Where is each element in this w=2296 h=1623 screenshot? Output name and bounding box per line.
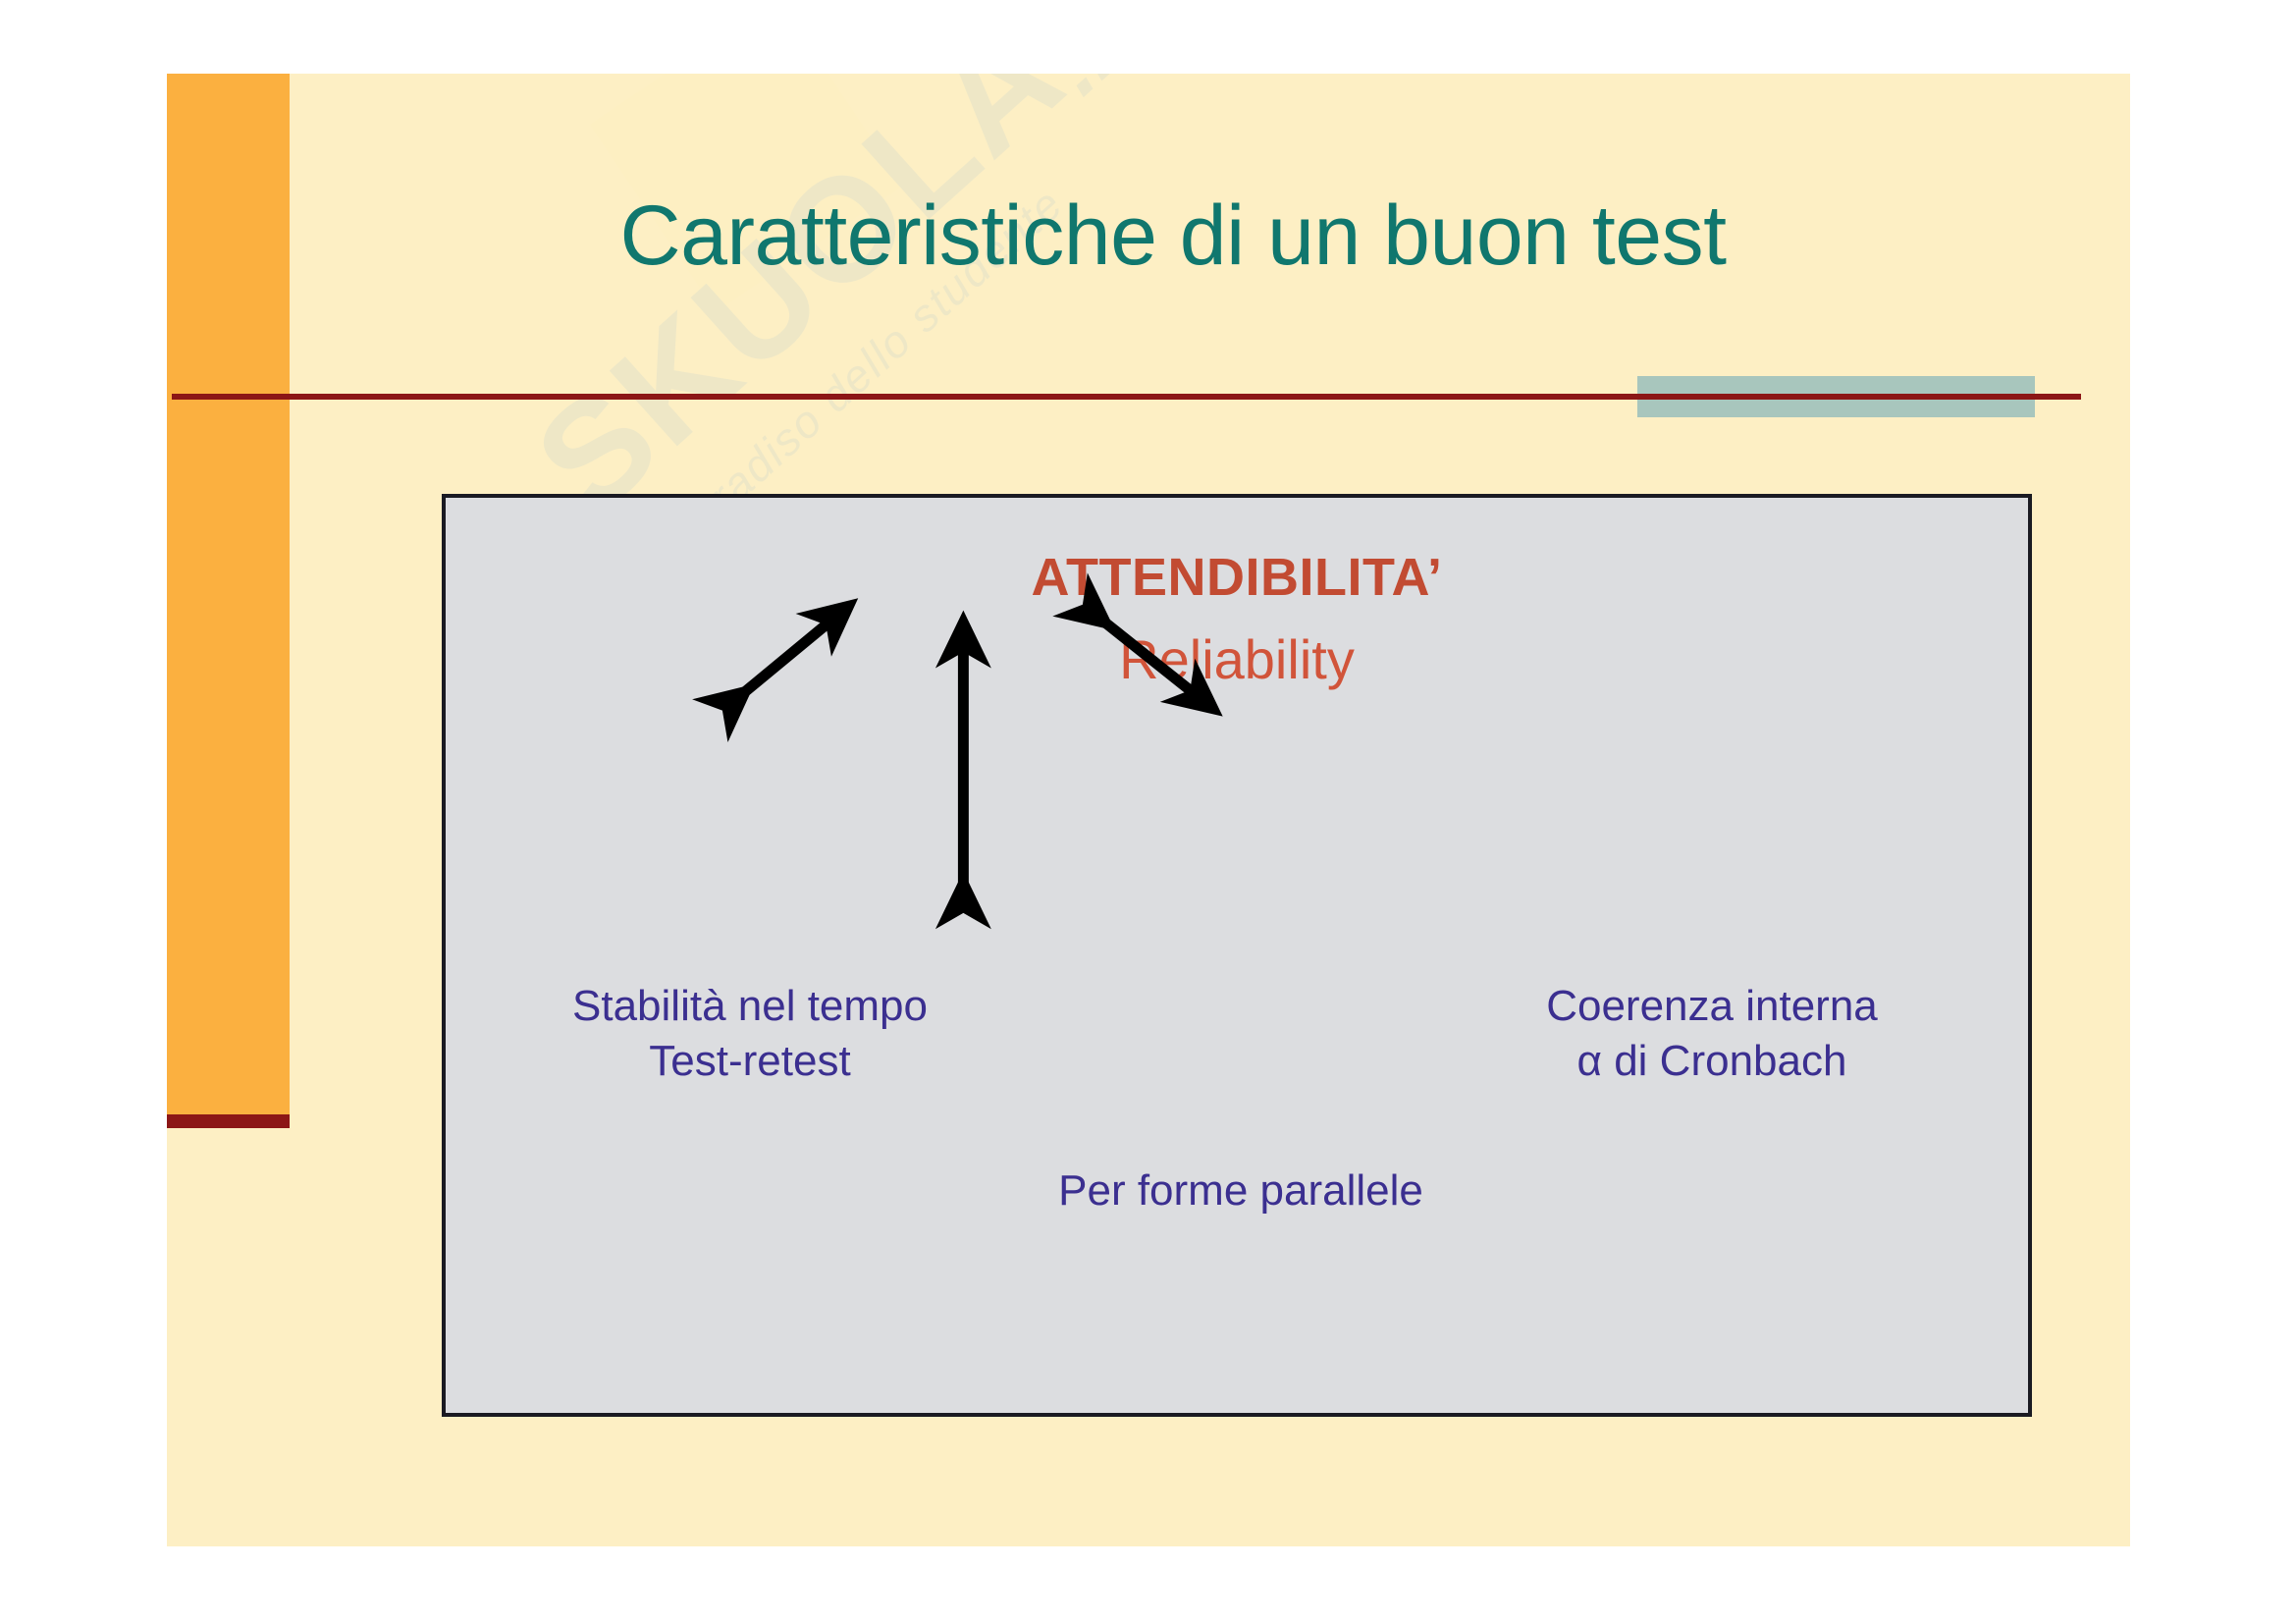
diagram-heading-main: ATTENDIBILITA’ [446, 547, 2028, 608]
content-box: ATTENDIBILITA’ Reliability Stabilità nel… [442, 494, 2032, 1417]
leaf-bottom-line1: Per forme parallele [907, 1163, 1575, 1218]
header-rule [172, 394, 2081, 400]
watermark-suffix: .net [1028, 74, 1216, 115]
leaf-right-line2: α di Cronbach [1437, 1034, 1987, 1089]
leaf-right-line1: Coerenza interna [1437, 979, 1987, 1034]
leaf-label-parallel-forms: Per forme parallele [907, 1163, 1575, 1218]
leaf-left-line1: Stabilità nel tempo [475, 979, 1025, 1034]
left-accent-bar-underline [167, 1114, 290, 1128]
page-title: Caratteristiche di un buon test [260, 191, 2086, 280]
watermark-brand: SKUOLA [504, 74, 1096, 547]
diagram-heading-sub: Reliability [446, 627, 2028, 691]
leaf-left-line2: Test-retest [475, 1034, 1025, 1089]
slide-canvas: SKUOLA .net il paradiso dello studente C… [167, 74, 2130, 1546]
leaf-label-stability: Stabilità nel tempo Test-retest [475, 979, 1025, 1090]
leaf-label-internal-consistency: Coerenza interna α di Cronbach [1437, 979, 1987, 1090]
